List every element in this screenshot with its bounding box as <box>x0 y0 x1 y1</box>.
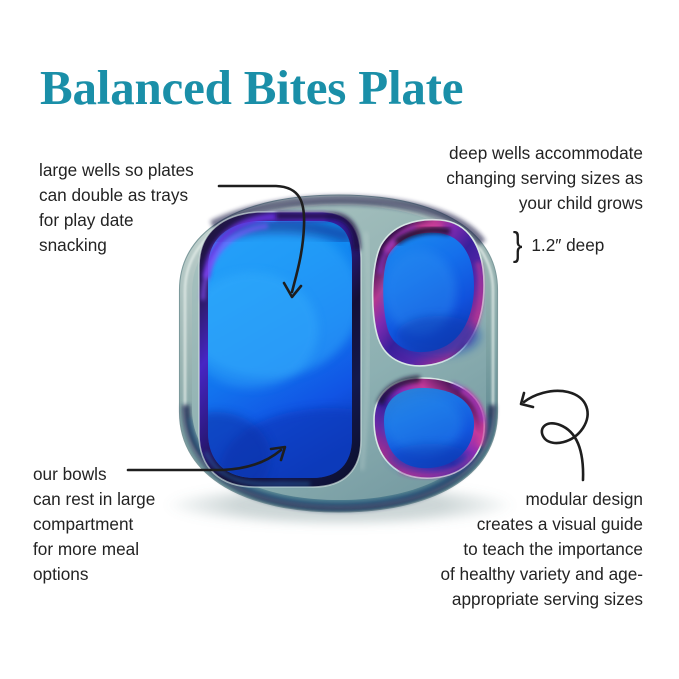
depth-bracket-icon: } <box>513 228 523 262</box>
arrow-head-top-left <box>284 283 301 297</box>
annotation-our-bowls: our bowls can rest in large compartment … <box>33 462 273 587</box>
arrow-path-bottom-right <box>524 391 588 480</box>
depth-measurement-label: 1.2″ deep <box>531 235 604 256</box>
annotation-deep-wells: deep wells accommodate changing serving … <box>373 141 643 216</box>
annotation-modular-design: modular design creates a visual guide to… <box>378 487 643 612</box>
arrow-head-bottom-right <box>521 393 533 407</box>
depth-callout: } 1.2″ deep <box>512 228 604 262</box>
product-infographic: Balanced Bites Plate large wells so plat… <box>0 0 679 679</box>
page-title: Balanced Bites Plate <box>40 59 463 116</box>
annotation-large-wells: large wells so plates can double as tray… <box>39 158 289 258</box>
arrow-head-bottom-left <box>271 447 285 460</box>
